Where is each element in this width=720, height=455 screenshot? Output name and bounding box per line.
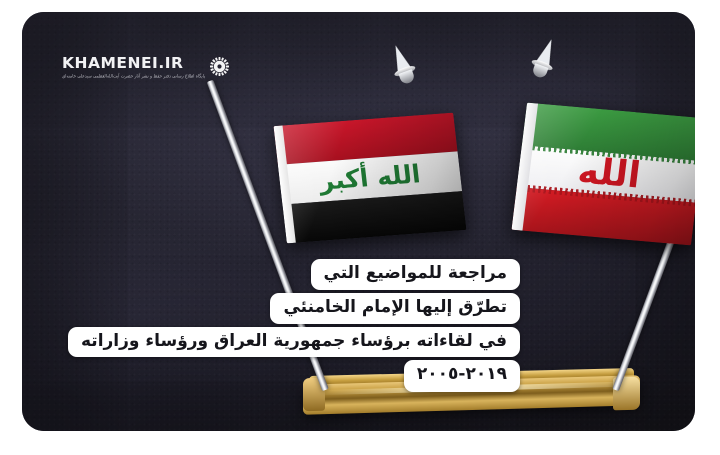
iran-flag-emblem-icon: الله	[576, 153, 643, 194]
cog-icon	[210, 57, 229, 76]
page-frame: KHAMENEI.IR پایگاه اطلاع رسانی دفتر حفظ …	[0, 0, 720, 455]
caption-line-1: مراجعة للمواضيع التي	[311, 259, 520, 290]
wordmark-khamenei-ir: KHAMENEI.IR	[62, 56, 205, 72]
photo-card: KHAMENEI.IR پایگاه اطلاع رسانی دفتر حفظ …	[22, 12, 695, 431]
wordmark-subtitle: پایگاه اطلاع رسانی دفتر حفظ و نشر آثار ح…	[62, 74, 205, 79]
caption-line-3: في لقاءاته برؤساء جمهورية العراق ورؤساء …	[68, 327, 520, 358]
iran-flag: الله	[511, 103, 695, 246]
caption-block: مراجعة للمواضيع التي تطرّق إليها الإمام …	[68, 259, 520, 392]
caption-line-2: تطرّق إليها الإمام الخامنئي	[270, 293, 520, 324]
iraq-flag: الله أكبر	[274, 113, 467, 244]
khamenei-watermark-logo[interactable]: KHAMENEI.IR پایگاه اطلاع رسانی دفتر حفظ …	[62, 56, 229, 78]
caption-date-range: ٢٠١٩-٢٠٠٥	[404, 360, 520, 392]
